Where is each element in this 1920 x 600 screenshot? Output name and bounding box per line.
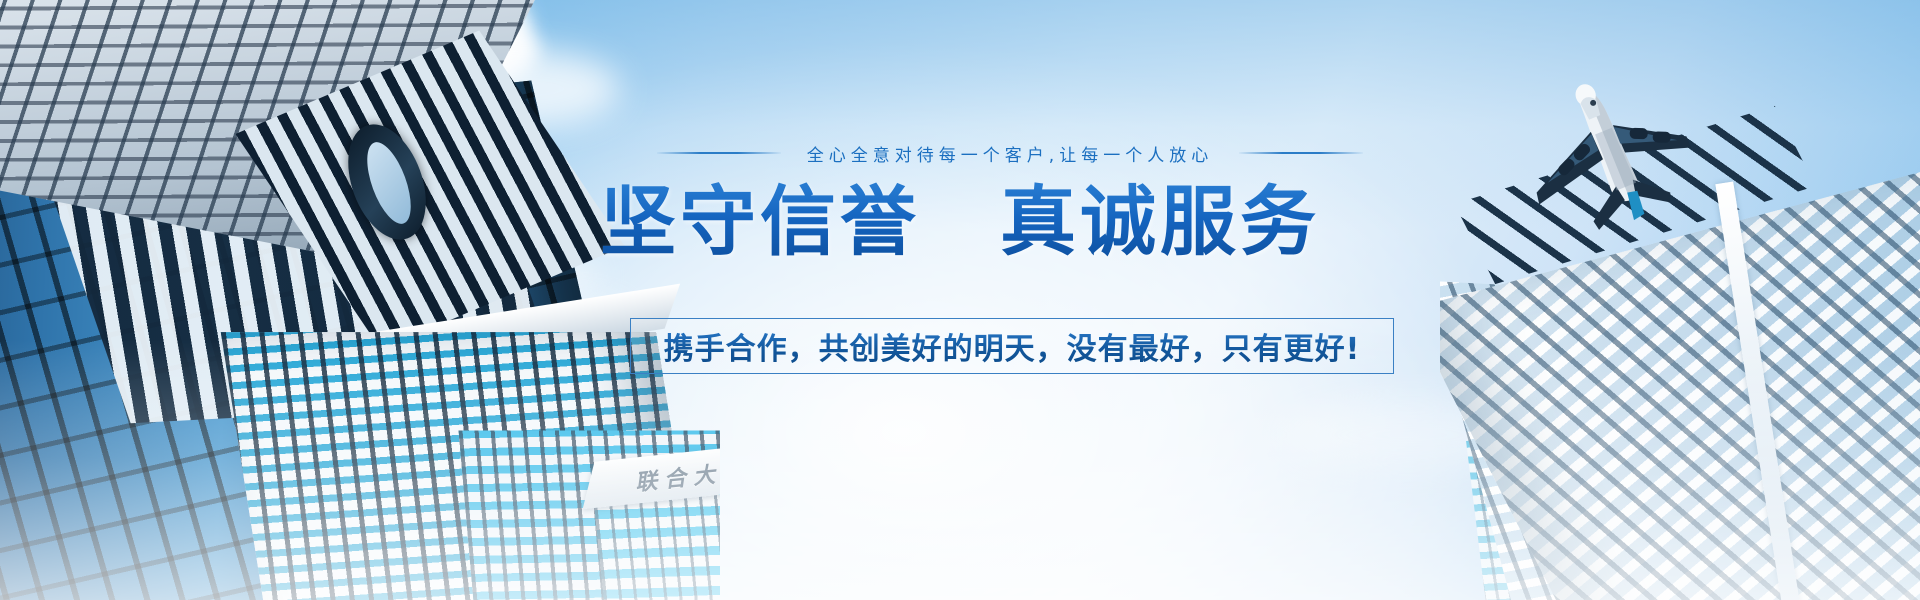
hero-banner: 联合大厦: [0, 0, 1920, 600]
subtitle-box: 携手合作，共创美好的明天，没有最好，只有更好!: [630, 318, 1394, 374]
tagline-row: 全心全意对待每一个客户,让每一个人放心: [560, 138, 1460, 168]
headline-text: 坚守信誉 真诚服务: [0, 178, 1920, 266]
tagline-rule-right: [1239, 152, 1363, 154]
tagline-rule-left: [657, 152, 781, 154]
subtitle-text: 携手合作，共创美好的明天，没有最好，只有更好!: [664, 324, 1361, 368]
tagline-text: 全心全意对待每一个客户,让每一个人放心: [807, 141, 1213, 166]
sky-bottom-haze: [0, 340, 1920, 600]
